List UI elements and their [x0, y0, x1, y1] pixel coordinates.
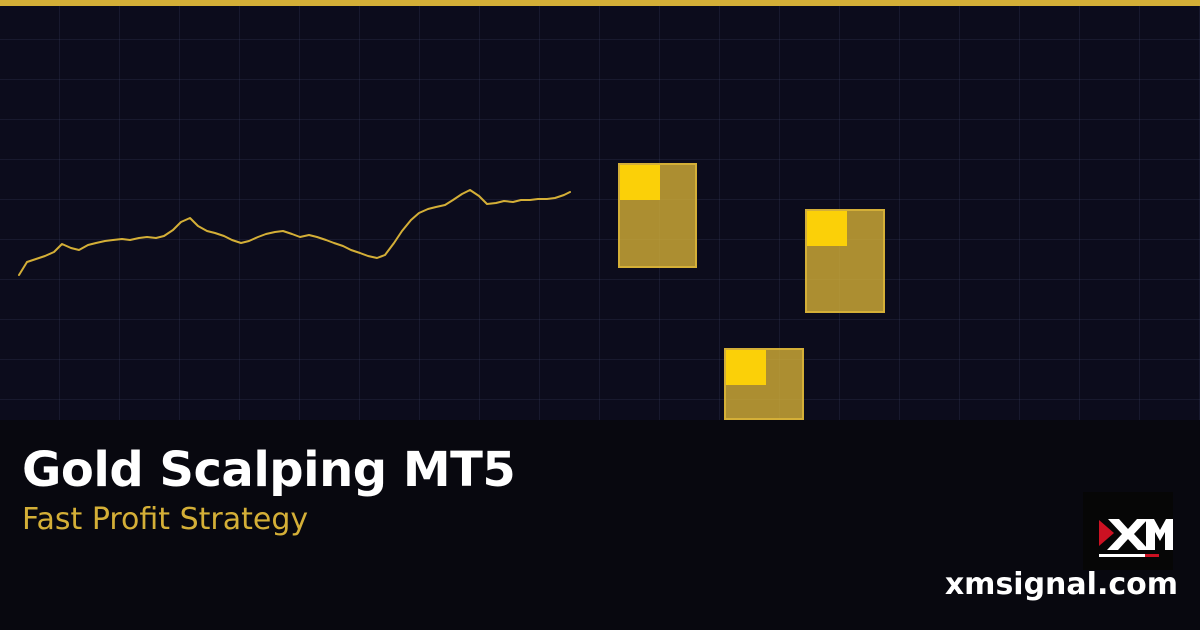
block-2: [805, 209, 885, 313]
block-3: [724, 348, 804, 420]
block-3-highlight: [726, 350, 766, 385]
price-line-chart: [0, 0, 1200, 420]
block-1-highlight: [620, 165, 660, 200]
page-title: Gold Scalping MT5: [22, 442, 515, 498]
xm-logo-icon: [1083, 492, 1173, 570]
page-subtitle: Fast Profit Strategy: [22, 502, 308, 537]
block-2-highlight: [807, 211, 847, 246]
block-1: [618, 163, 697, 268]
top-accent-bar: [0, 0, 1200, 6]
promo-banner: Gold Scalping MT5 Fast Profit Strategy x…: [0, 0, 1200, 630]
chart-panel: [0, 0, 1200, 420]
site-url-label: xmsignal.com: [945, 567, 1178, 602]
